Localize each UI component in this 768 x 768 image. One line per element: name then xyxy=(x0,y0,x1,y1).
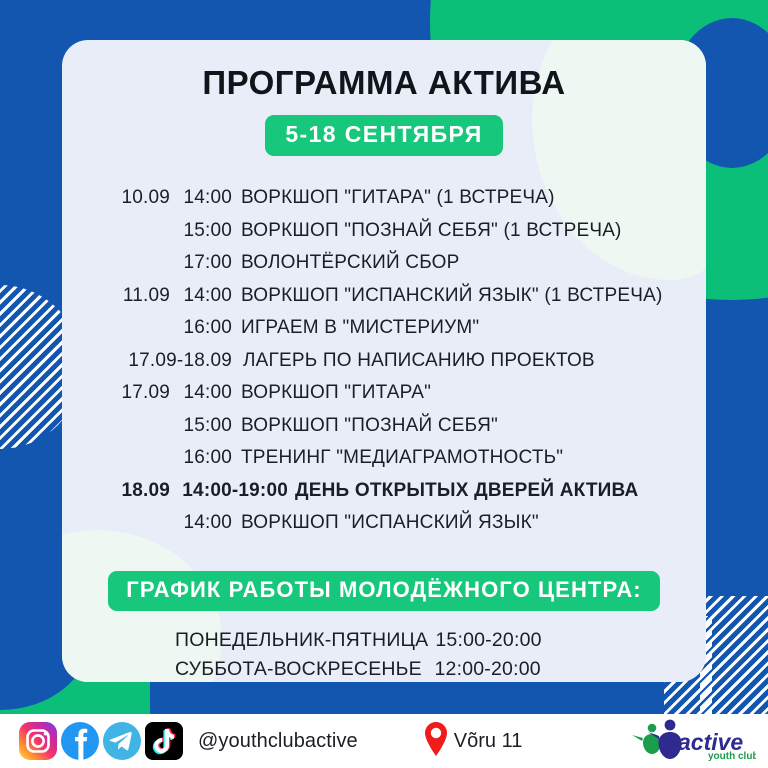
date-range-badge: 5-18 СЕНТЯБРЯ xyxy=(265,115,502,156)
schedule-time: 14:00-19:00 xyxy=(170,480,288,502)
address-text: Võru 11 xyxy=(454,730,523,753)
social-links xyxy=(18,721,184,761)
schedule-time: 14:00 xyxy=(170,187,232,209)
schedule-row: 14:00ВОРКШОП "ИСПАНСКИЙ ЯЗЫК" xyxy=(62,512,706,545)
schedule-list: 10.0914:00ВОРКШОП "ГИТАРА" (1 ВСТРЕЧА)15… xyxy=(62,187,706,545)
map-pin-icon xyxy=(423,721,449,762)
tiktok-icon[interactable] xyxy=(144,721,184,761)
schedule-time: 15:00 xyxy=(170,220,232,242)
schedule-time: 15:00 xyxy=(170,415,232,437)
schedule-row: 15:00ВОРКШОП "ПОЗНАЙ СЕБЯ" xyxy=(62,415,706,448)
schedule-row: 16:00ТРЕНИНГ "МЕДИАГРАМОТНОСТЬ" xyxy=(62,447,706,480)
schedule-time: 16:00 xyxy=(170,447,232,469)
active-youth-club-logo: active youth club xyxy=(626,717,756,766)
schedule-description: ВОРКШОП "ПОЗНАЙ СЕБЯ" xyxy=(232,415,498,437)
hours-time: 15:00-20:00 xyxy=(435,629,541,651)
schedule-description: ИГРАЕМ В "МИСТЕРИУМ" xyxy=(232,317,479,339)
hours-line: ПОНЕДЕЛЬНИК-ПЯТНИЦА15:00-20:00 xyxy=(175,629,706,658)
social-handle[interactable]: @youthclubactive xyxy=(198,730,358,753)
schedule-date: 11.09 xyxy=(62,285,170,307)
striped-square-bottom-right xyxy=(700,596,768,714)
hours-days: СУББОТА-ВОСКРЕСЕНЬЕ xyxy=(175,658,422,680)
schedule-description: ВОРКШОП "ПОЗНАЙ СЕБЯ" (1 ВСТРЕЧА) xyxy=(232,220,622,242)
address-block: Võru 11 xyxy=(423,721,523,762)
schedule-row: 17.09-18.09ЛАГЕРЬ ПО НАПИСАНИЮ ПРОЕКТОВ xyxy=(62,350,706,383)
footer-bar: @youthclubactive Võru 11 active youth cl… xyxy=(0,714,768,768)
instagram-icon[interactable] xyxy=(18,721,58,761)
logo-tagline: youth club xyxy=(708,751,756,761)
schedule-description: ДЕНЬ ОТКРЫТЫХ ДВЕРЕЙ АКТИВА xyxy=(288,480,638,502)
schedule-description: ВОРКШОП "ИСПАНСКИЙ ЯЗЫК" xyxy=(232,512,539,534)
program-card: ПРОГРАММА АКТИВА 5-18 СЕНТЯБРЯ 10.0914:0… xyxy=(62,40,706,682)
schedule-date: 17.09 xyxy=(62,382,170,404)
schedule-time: 14:00 xyxy=(170,512,232,534)
schedule-row: 10.0914:00ВОРКШОП "ГИТАРА" (1 ВСТРЕЧА) xyxy=(62,187,706,220)
schedule-row: 11.0914:00ВОРКШОП "ИСПАНСКИЙ ЯЗЫК" (1 ВС… xyxy=(62,285,706,318)
schedule-time: 16:00 xyxy=(170,317,232,339)
schedule-description: ВОРКШОП "ИСПАНСКИЙ ЯЗЫК" (1 ВСТРЕЧА) xyxy=(232,285,662,307)
date-badge-wrap: 5-18 СЕНТЯБРЯ xyxy=(62,115,706,156)
schedule-description: ВОЛОНТЁРСКИЙ СБОР xyxy=(232,252,460,274)
hours-days: ПОНЕДЕЛЬНИК-ПЯТНИЦА xyxy=(175,629,428,651)
schedule-date: 18.09 xyxy=(62,480,170,502)
schedule-date: 10.09 xyxy=(62,187,170,209)
hours-line: СУББОТА-ВОСКРЕСЕНЬЕ 12:00-20:00 xyxy=(175,658,706,683)
schedule-row: 17:00ВОЛОНТЁРСКИЙ СБОР xyxy=(62,252,706,285)
hours-title-badge: ГРАФИК РАБОТЫ МОЛОДЁЖНОГО ЦЕНТРА: xyxy=(108,571,659,611)
schedule-date: 17.09-18.09 xyxy=(62,350,232,372)
schedule-description: ЛАГЕРЬ ПО НАПИСАНИЮ ПРОЕКТОВ xyxy=(232,350,595,372)
blue-strip-bottom xyxy=(150,678,710,714)
schedule-row: 17.0914:00ВОРКШОП "ГИТАРА" xyxy=(62,382,706,415)
hours-badge-wrap: ГРАФИК РАБОТЫ МОЛОДЁЖНОГО ЦЕНТРА: xyxy=(62,571,706,611)
schedule-row: 16:00ИГРАЕМ В "МИСТЕРИУМ" xyxy=(62,317,706,350)
schedule-time: 17:00 xyxy=(170,252,232,274)
schedule-description: ВОРКШОП "ГИТАРА" xyxy=(232,382,431,404)
page-title: ПРОГРАММА АКТИВА xyxy=(62,64,706,102)
schedule-description: ВОРКШОП "ГИТАРА" (1 ВСТРЕЧА) xyxy=(232,187,555,209)
schedule-row: 18.0914:00-19:00ДЕНЬ ОТКРЫТЫХ ДВЕРЕЙ АКТ… xyxy=(62,480,706,513)
schedule-time: 14:00 xyxy=(170,285,232,307)
telegram-icon[interactable] xyxy=(102,721,142,761)
hours-time: 12:00-20:00 xyxy=(429,658,541,680)
schedule-time: 14:00 xyxy=(170,382,232,404)
facebook-icon[interactable] xyxy=(60,721,100,761)
hours-list: ПОНЕДЕЛЬНИК-ПЯТНИЦА15:00-20:00СУББОТА-ВО… xyxy=(62,629,706,683)
schedule-row: 15:00ВОРКШОП "ПОЗНАЙ СЕБЯ" (1 ВСТРЕЧА) xyxy=(62,220,706,253)
schedule-description: ТРЕНИНГ "МЕДИАГРАМОТНОСТЬ" xyxy=(232,447,563,469)
